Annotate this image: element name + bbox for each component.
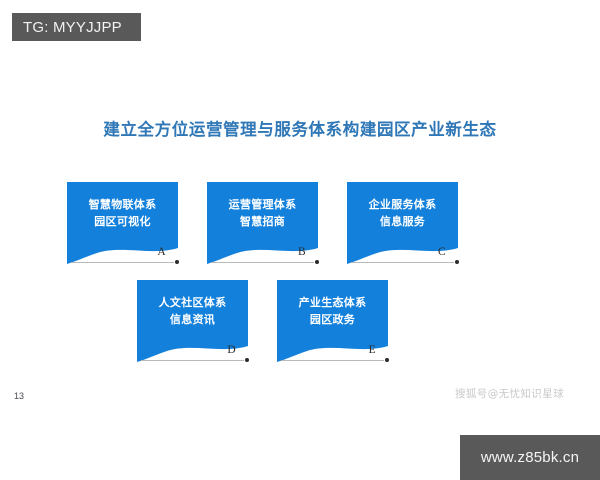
card-b-endpoint-dot [315, 260, 319, 264]
card-d-underline [141, 360, 244, 361]
card-b[interactable]: 运营管理体系 智慧招商 B [207, 182, 318, 266]
url-watermark-text: www.z85bk.cn [481, 449, 579, 466]
card-a-letter: A [157, 246, 166, 258]
card-e-letter: E [369, 344, 376, 356]
card-c-letter: C [438, 246, 446, 258]
card-d-letter: D [227, 344, 236, 356]
card-c-endpoint-dot [455, 260, 459, 264]
card-c[interactable]: 企业服务体系 信息服务 C [347, 182, 458, 266]
card-e-endpoint-dot [385, 358, 389, 362]
card-e-underline [281, 360, 384, 361]
card-b-letter: B [298, 246, 306, 258]
card-a[interactable]: 智慧物联体系 园区可视化 A [67, 182, 178, 266]
card-e[interactable]: 产业生态体系 园区政务 E [277, 280, 388, 364]
telegram-watermark-text: TG: MYYJJPP [23, 19, 122, 36]
sohu-watermark: 搜狐号@无忧知识星球 [455, 386, 564, 401]
url-watermark-badge: www.z85bk.cn [460, 435, 600, 480]
card-c-underline [351, 262, 454, 263]
card-a-underline [71, 262, 174, 263]
telegram-watermark-badge: TG: MYYJJPP [12, 13, 141, 41]
card-grid: 智慧物联体系 园区可视化 A 运营管理体系 智慧招商 B 企业服务体系 信息服务… [0, 0, 600, 480]
card-d-endpoint-dot [245, 358, 249, 362]
card-a-endpoint-dot [175, 260, 179, 264]
page-title: 建立全方位运营管理与服务体系构建园区产业新生态 [0, 116, 600, 140]
page-number: 13 [14, 391, 24, 401]
card-b-underline [211, 262, 314, 263]
card-d[interactable]: 人文社区体系 信息资讯 D [137, 280, 248, 364]
